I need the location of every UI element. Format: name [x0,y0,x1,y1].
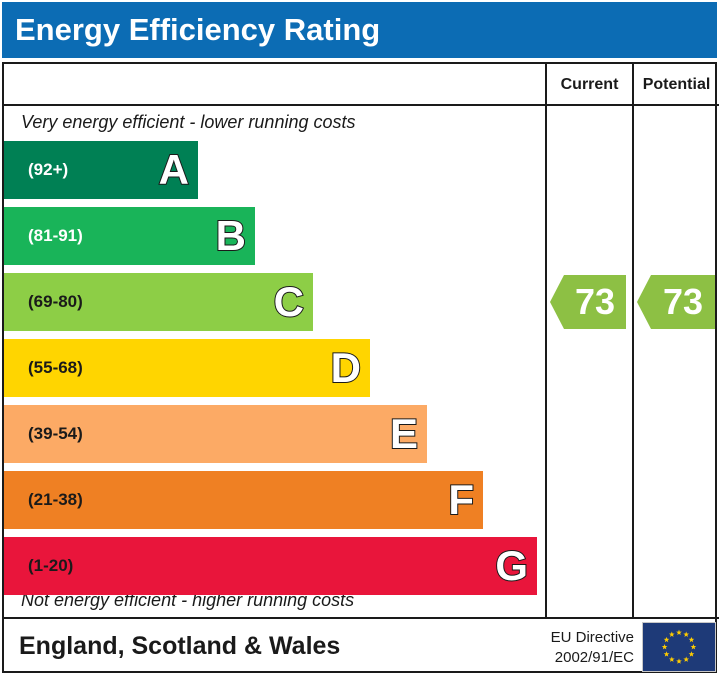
band-letter-e: E [390,413,418,455]
band-range-e: (39-54) [28,424,83,444]
rating-arrow-current: 73 [550,275,626,329]
band-row-e: (39-54)E [4,405,427,463]
band-row-d: (55-68)D [4,339,370,397]
page-title: Energy Efficiency Rating [15,12,380,48]
header-divider [4,104,719,106]
band-letter-g: G [495,545,528,587]
band-letter-a: A [159,149,189,191]
band-range-b: (81-91) [28,226,83,246]
band-letter-c: C [274,281,304,323]
band-row-f: (21-38)F [4,471,483,529]
band-range-f: (21-38) [28,490,83,510]
directive-line-2: 2002/91/EC [524,648,634,668]
directive-line-1: EU Directive [524,628,634,648]
band-letter-f: F [448,479,474,521]
band-range-a: (92+) [28,160,68,180]
eu-flag-icon [642,622,716,672]
column-divider-potential [632,64,634,617]
footer-divider [4,617,719,619]
band-range-g: (1-20) [28,556,73,576]
column-header-potential: Potential [634,74,719,96]
column-divider-current [545,64,547,617]
footer-country-label: England, Scotland & Wales [19,632,340,661]
rating-arrow-potential: 73 [637,275,715,329]
band-range-c: (69-80) [28,292,83,312]
band-row-a: (92+)A [4,141,198,199]
rating-value-current: 73 [564,284,626,320]
band-row-b: (81-91)B [4,207,255,265]
rating-table: Current Potential Very energy efficient … [2,62,717,673]
band-row-g: (1-20)G [4,537,537,595]
band-letter-d: D [331,347,361,389]
band-range-d: (55-68) [28,358,83,378]
column-header-current: Current [547,74,632,96]
band-letter-b: B [216,215,246,257]
rating-value-potential: 73 [651,284,715,320]
footer-directive-label: EU Directive 2002/91/EC [524,628,634,668]
energy-efficiency-rating-chart: Energy Efficiency Rating Current Potenti… [0,0,719,675]
band-row-c: (69-80)C [4,273,313,331]
title-bar: Energy Efficiency Rating [2,2,717,58]
caption-top: Very energy efficient - lower running co… [21,112,356,133]
